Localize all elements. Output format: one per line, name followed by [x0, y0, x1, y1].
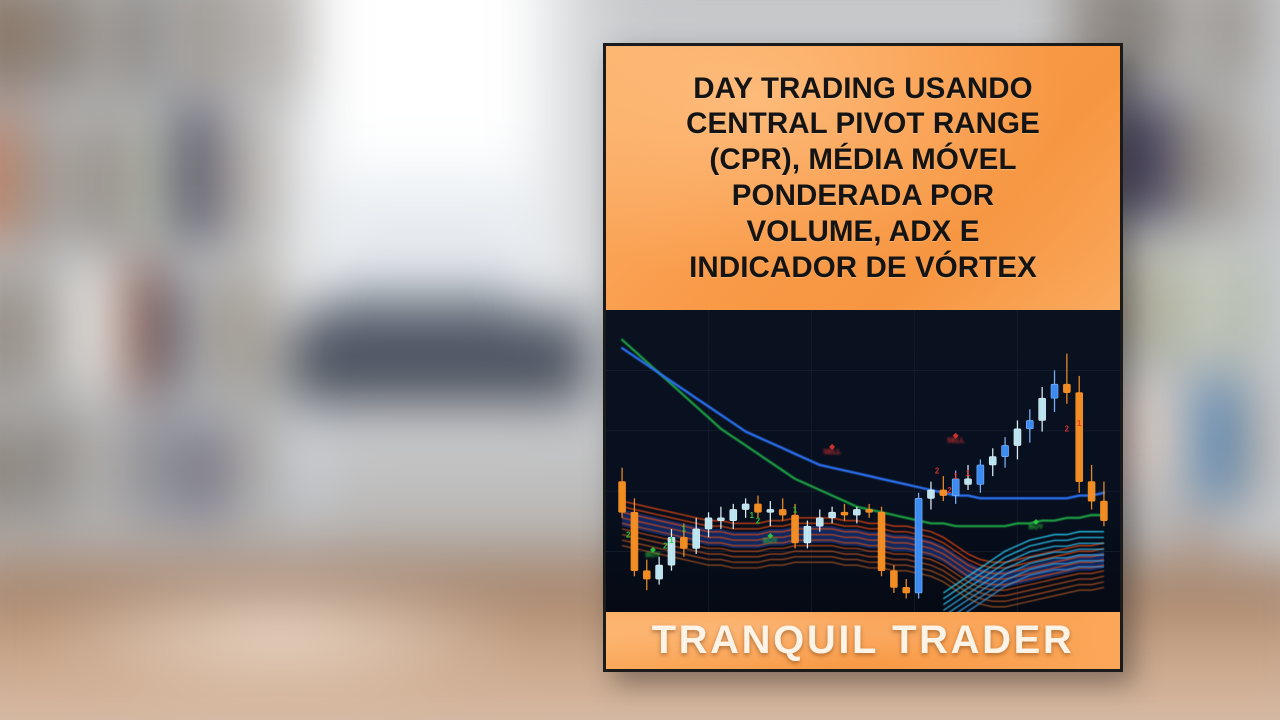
window-light: [332, 0, 528, 340]
svg-text:SELL: SELL: [947, 438, 965, 445]
floor-reflection: [20, 572, 540, 692]
svg-text:1: 1: [953, 472, 958, 481]
svg-text:2: 2: [947, 486, 952, 495]
shelf-label-left: [30, 488, 100, 500]
author-band: TRANQUIL TRADER: [606, 612, 1120, 669]
svg-text:1: 1: [1077, 419, 1082, 428]
wall-right: [1260, 0, 1280, 560]
svg-text:1: 1: [793, 505, 798, 514]
svg-text:2: 2: [663, 541, 668, 550]
shelf-label-right: [1132, 488, 1202, 500]
svg-text:2: 2: [756, 516, 761, 525]
sofa: [290, 312, 590, 402]
svg-text:BUY: BUY: [1029, 524, 1044, 531]
svg-text:BUY: BUY: [763, 538, 778, 545]
author-name: TRANQUIL TRADER: [652, 618, 1075, 663]
svg-text:1: 1: [682, 525, 687, 534]
svg-text:2: 2: [935, 466, 940, 475]
book-title: DAY TRADING USANDO CENTRAL PIVOT RANGE (…: [680, 71, 1046, 286]
shelf-label-mid: [232, 488, 302, 500]
book-cover-inner: DAY TRADING USANDO CENTRAL PIVOT RANGE (…: [606, 46, 1120, 669]
trading-chart: BUY1221BUY121SELL211SELL2BUY21: [606, 310, 1120, 612]
bookshelf-left: [0, 0, 330, 540]
svg-text:2: 2: [1065, 425, 1070, 434]
svg-text:SELL: SELL: [823, 449, 841, 456]
svg-text:1: 1: [669, 536, 674, 545]
title-band: DAY TRADING USANDO CENTRAL PIVOT RANGE (…: [606, 46, 1120, 310]
book-cover: DAY TRADING USANDO CENTRAL PIVOT RANGE (…: [603, 43, 1123, 672]
candlestick-chart-svg: BUY1221BUY121SELL211SELL2BUY21: [606, 310, 1120, 612]
screenshot-stage: DAY TRADING USANDO CENTRAL PIVOT RANGE (…: [0, 0, 1280, 720]
svg-text:1: 1: [750, 511, 755, 520]
svg-text:2: 2: [626, 530, 631, 539]
svg-text:BUY: BUY: [646, 552, 661, 559]
svg-text:1: 1: [966, 469, 971, 478]
